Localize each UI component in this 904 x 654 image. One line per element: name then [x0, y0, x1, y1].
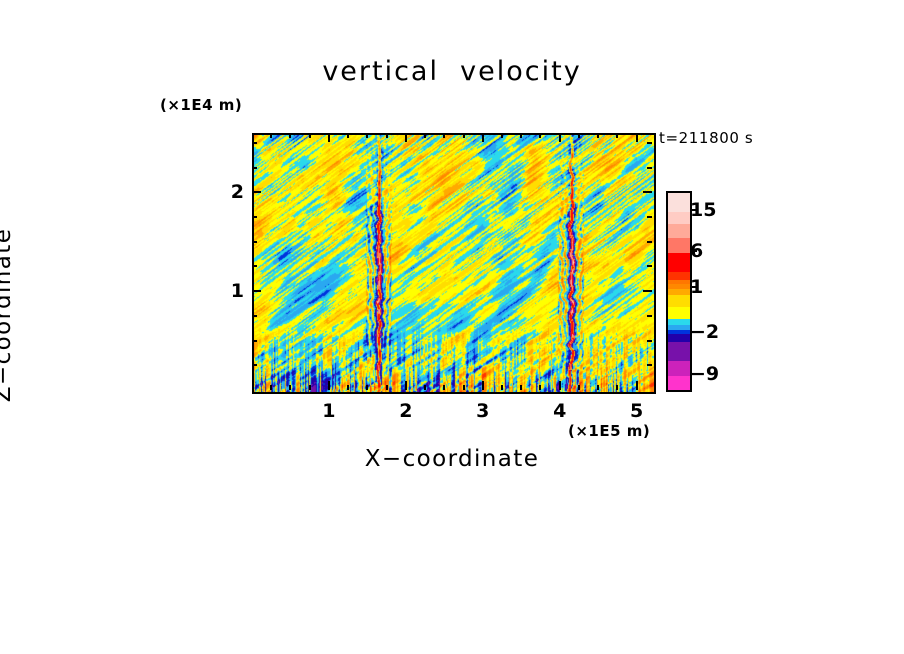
- y-tick-label: 1: [226, 280, 244, 302]
- axis-tick: [647, 142, 652, 144]
- axis-tick: [643, 191, 652, 193]
- axis-tick: [252, 315, 257, 317]
- axis-tick: [309, 133, 311, 138]
- x-tick-label: 3: [476, 400, 489, 422]
- axis-tick: [578, 385, 580, 390]
- colorbar-band: [668, 272, 690, 280]
- x-axis-unit-label: (×1E5 m): [568, 422, 650, 440]
- x-tick-label: 2: [399, 400, 412, 422]
- axis-tick: [252, 290, 261, 292]
- axis-tick: [309, 385, 311, 390]
- axis-tick: [559, 381, 561, 390]
- axis-tick: [647, 315, 652, 317]
- axis-tick: [597, 133, 599, 138]
- axis-tick: [501, 385, 503, 390]
- axis-tick: [289, 133, 291, 138]
- colorbar-label: 6: [690, 240, 703, 262]
- colorbar-band: [668, 342, 690, 361]
- axis-tick: [463, 385, 465, 390]
- axis-tick: [647, 364, 652, 366]
- axis-tick: [424, 385, 426, 390]
- axis-tick: [647, 216, 652, 218]
- axis-tick: [347, 385, 349, 390]
- axis-tick: [520, 385, 522, 390]
- axis-tick: [443, 133, 445, 138]
- axis-tick: [578, 133, 580, 138]
- axis-tick: [386, 385, 388, 390]
- axis-tick: [424, 133, 426, 138]
- colorbar-label: 1: [690, 276, 703, 298]
- axis-tick: [647, 265, 652, 267]
- axis-tick: [252, 142, 257, 144]
- axis-tick: [616, 385, 618, 390]
- x-axis-title: X−coordinate: [0, 446, 904, 472]
- axis-tick: [252, 191, 261, 193]
- axis-tick: [539, 385, 541, 390]
- axis-tick: [616, 133, 618, 138]
- axis-tick: [647, 167, 652, 169]
- colorbar-label: −9: [690, 363, 719, 385]
- axis-tick: [643, 290, 652, 292]
- colorbar-label: −2: [690, 321, 719, 343]
- colorbar-label: 15: [690, 199, 716, 221]
- colorbar-band: [668, 224, 690, 238]
- axis-tick: [289, 385, 291, 390]
- colorbar-band: [668, 361, 690, 376]
- colorbar-band: [668, 307, 690, 319]
- axis-tick: [366, 385, 368, 390]
- y-axis-unit-label: (×1E4 m): [160, 96, 242, 114]
- axis-tick: [443, 385, 445, 390]
- colorbar-band: [668, 295, 690, 307]
- axis-tick: [482, 133, 484, 142]
- axis-tick: [270, 133, 272, 138]
- page-title: vertical velocity: [0, 56, 904, 87]
- colorbar: [666, 191, 692, 392]
- axis-tick: [405, 381, 407, 390]
- axis-tick: [520, 133, 522, 138]
- colorbar-band: [668, 238, 690, 253]
- axis-tick: [252, 167, 257, 169]
- colorbar-band: [668, 334, 690, 342]
- axis-tick: [347, 133, 349, 138]
- axis-tick: [559, 133, 561, 142]
- x-tick-label: 5: [630, 400, 643, 422]
- axis-tick: [252, 340, 257, 342]
- plot-area: [252, 133, 656, 394]
- axis-tick: [597, 385, 599, 390]
- axis-tick: [252, 241, 257, 243]
- axis-tick: [366, 133, 368, 138]
- axis-tick: [647, 241, 652, 243]
- colorbar-band: [668, 376, 690, 390]
- axis-tick: [636, 381, 638, 390]
- x-tick-label: 1: [322, 400, 335, 422]
- axis-tick: [252, 265, 257, 267]
- axis-tick: [270, 385, 272, 390]
- axis-tick: [647, 340, 652, 342]
- y-tick-label: 2: [226, 181, 244, 203]
- x-tick-label: 4: [553, 400, 566, 422]
- axis-tick: [328, 133, 330, 142]
- axis-tick: [252, 216, 257, 218]
- axis-tick: [405, 133, 407, 142]
- axis-tick: [463, 133, 465, 138]
- vertical-velocity-heatmap: [254, 135, 654, 392]
- axis-tick: [636, 133, 638, 142]
- colorbar-band: [668, 253, 690, 272]
- colorbar-band: [668, 212, 690, 224]
- colorbar-band: [668, 193, 690, 212]
- axis-tick: [501, 133, 503, 138]
- axis-tick: [252, 364, 257, 366]
- axis-tick: [328, 381, 330, 390]
- axis-tick: [482, 381, 484, 390]
- timestamp-label: t=211800 s: [659, 129, 753, 147]
- axis-tick: [386, 133, 388, 138]
- y-axis-title: Z−coordinate: [0, 165, 16, 465]
- axis-tick: [539, 133, 541, 138]
